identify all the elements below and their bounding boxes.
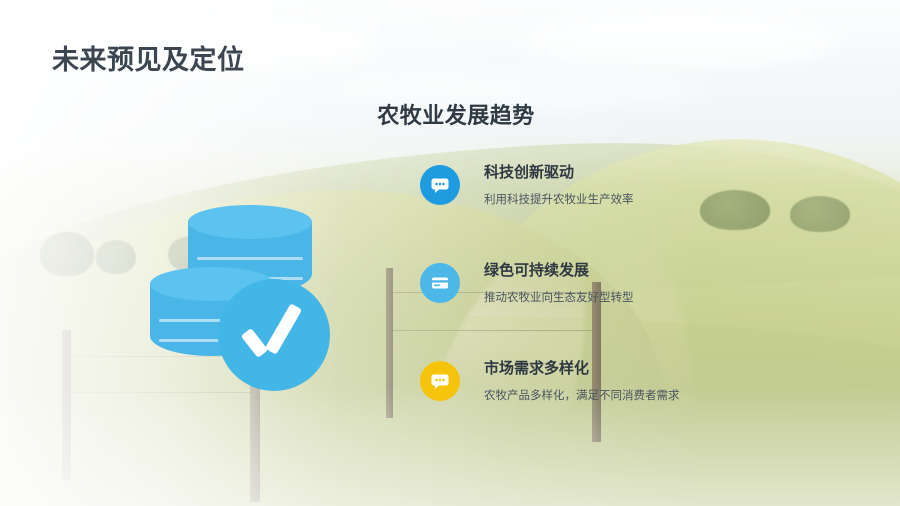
feature-list: 科技创新驱动 利用科技提升农牧业生产效率 绿色可持续发展 推动农牧业向生态友好型…: [420, 163, 840, 411]
feature-title: 市场需求多样化: [484, 359, 680, 379]
section-heading-text: 农牧业发展趋势: [365, 103, 535, 128]
chat-bubble-icon: [420, 361, 460, 401]
coin-divider-line: [197, 257, 304, 260]
chat-bubble-icon: [420, 165, 460, 205]
feature-title: 绿色可持续发展: [484, 261, 634, 281]
page-title: 未来预见及定位: [52, 38, 245, 77]
feature-title: 科技创新驱动: [484, 163, 634, 183]
feature-text: 绿色可持续发展 推动农牧业向生态友好型转型: [484, 261, 634, 306]
feature-text: 市场需求多样化 农牧产品多样化，满足不同消费者需求: [484, 359, 680, 404]
feature-text: 科技创新驱动 利用科技提升农牧业生产效率: [484, 163, 634, 208]
coin-top-face: [188, 205, 312, 239]
feature-description: 利用科技提升农牧业生产效率: [484, 192, 634, 208]
feature-description: 推动农牧业向生态友好型转型: [484, 290, 634, 306]
feature-description: 农牧产品多样化，满足不同消费者需求: [484, 388, 680, 404]
feature-item: 市场需求多样化 农牧产品多样化，满足不同消费者需求: [420, 359, 840, 411]
section-heading: 农牧业发展趋势: [0, 98, 900, 130]
feature-item: 绿色可持续发展 推动农牧业向生态友好型转型: [420, 261, 840, 313]
feature-item: 科技创新驱动 利用科技提升农牧业生产效率: [420, 163, 840, 215]
presentation-slide: 未来预见及定位 农牧业发展趋势: [0, 0, 900, 506]
card-icon: [420, 263, 460, 303]
checkmark-circle: [218, 279, 330, 391]
coins-and-checkmark-illustration: [150, 205, 390, 395]
check-icon: [244, 309, 302, 339]
